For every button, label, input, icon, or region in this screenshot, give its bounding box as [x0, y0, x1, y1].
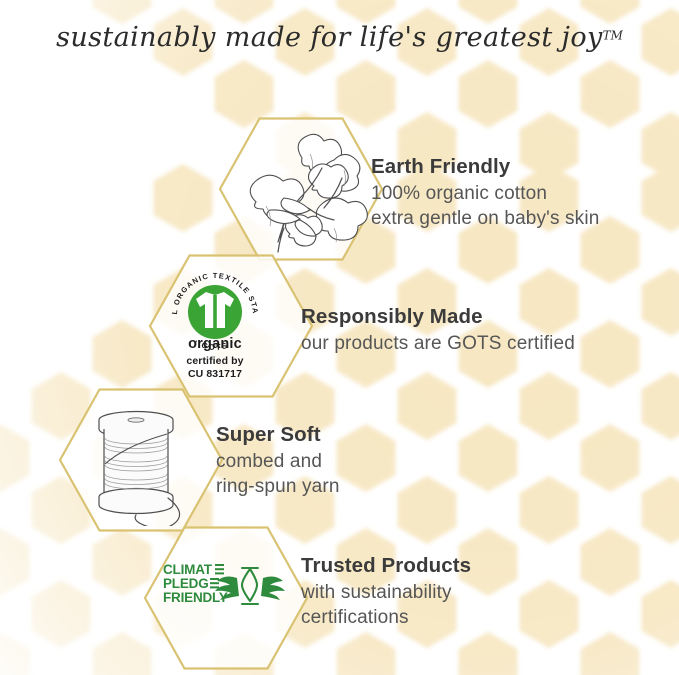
feature-line: with sustainability: [301, 580, 471, 605]
feature-text-earth-friendly: Earth Friendly 100% organic cotton extra…: [371, 155, 599, 231]
feature-title: Super Soft: [216, 423, 340, 447]
feature-text-super-soft: Super Soft combed and ring-spun yarn: [216, 423, 340, 499]
tagline-text: sustainably made for life's greatest joy: [56, 22, 603, 53]
climate-pledge-friendly-icon: CLIMAT PLEDG FRIENDLY: [163, 560, 285, 616]
svg-text:PLEDG: PLEDG: [163, 576, 209, 591]
feature-title: Responsibly Made: [301, 305, 575, 329]
gots-certificate-number: CU 831717: [145, 368, 285, 381]
feature-line: extra gentle on baby's skin: [371, 206, 599, 231]
cotton-plant-sketch-icon: [226, 124, 376, 256]
feature-title: Earth Friendly: [371, 155, 599, 179]
feature-line: combed and: [216, 449, 340, 474]
gots-badge-caption: organic certified by CU 831717: [145, 336, 285, 381]
feature-line: our products are GOTS certified: [301, 331, 575, 356]
trademark-symbol: TM: [603, 29, 623, 43]
feature-line: ring-spun yarn: [216, 474, 340, 499]
thread-spool-sketch-icon: [78, 398, 206, 526]
feature-text-trusted-products: Trusted Products with sustainability cer…: [301, 554, 471, 630]
gots-certified-by-label: certified by: [145, 355, 285, 368]
feature-title: Trusted Products: [301, 554, 471, 578]
feature-line: 100% organic cotton: [371, 181, 599, 206]
gots-organic-label: organic: [145, 336, 285, 352]
svg-text:FRIENDLY: FRIENDLY: [163, 590, 228, 605]
winged-hourglass-icon: [215, 577, 285, 600]
svg-text:CLIMAT: CLIMAT: [163, 562, 213, 577]
feature-line: certifications: [301, 605, 471, 630]
tagline: sustainably made for life's greatest joy…: [0, 22, 679, 53]
sustainability-features-graphic: sustainably made for life's greatest joy…: [0, 0, 679, 675]
feature-text-responsibly-made: Responsibly Made our products are GOTS c…: [301, 305, 575, 356]
